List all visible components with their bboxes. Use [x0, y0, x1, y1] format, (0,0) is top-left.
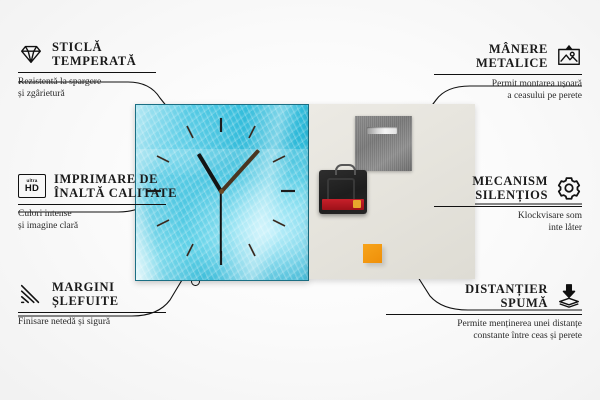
feature-polished-edges: MARGINI ȘLEFUITE Finisare netedă și sigu…	[18, 280, 218, 329]
feature-title: STICLĂ TEMPERATĂ	[52, 40, 136, 68]
feature-desc-line1: Permite menținerea unei distanțe	[352, 319, 582, 331]
clock-hand-second	[220, 192, 222, 254]
gear-icon	[556, 175, 582, 201]
feature-foam-spacer: DISTANȚIER SPUMĂ Permite menținerea unei…	[352, 282, 582, 342]
battery-plus-terminal	[353, 200, 361, 208]
infographic-canvas: STICLĂ TEMPERATĂ Rezistentă la spargere …	[0, 0, 600, 400]
feature-desc-line1: Culori intense	[18, 209, 218, 221]
feature-divider	[18, 72, 156, 73]
feature-desc-line1: Klockvisare som	[382, 211, 582, 223]
feature-metal-handles: MÂNERE METALICE Permit montarea ușoară a…	[382, 42, 582, 102]
metal-hanger-plate	[355, 116, 412, 171]
quartz-mechanism	[319, 170, 367, 214]
feature-header: STICLĂ TEMPERATĂ	[18, 40, 208, 68]
feature-desc-line1: Rezistentă la spargere	[18, 77, 208, 89]
feature-print-quality: ultra HD IMPRIMARE DE ÎNALTĂ CALITATE Cu…	[18, 172, 218, 232]
feature-silent-mechanism: MECANISM SILENȚIOS Klockvisare som inte …	[382, 174, 582, 234]
feature-title: MARGINI ȘLEFUITE	[52, 280, 119, 308]
feature-header: MÂNERE METALICE	[382, 42, 582, 70]
feature-header: MECANISM SILENȚIOS	[382, 174, 582, 202]
battery	[322, 199, 364, 210]
feature-divider	[434, 206, 582, 207]
feature-divider	[18, 204, 166, 205]
picture-frame-icon	[556, 43, 582, 69]
orange-foam-spacer	[363, 244, 382, 263]
feature-title: IMPRIMARE DE ÎNALTĂ CALITATE	[54, 172, 177, 200]
clock-center-cap	[219, 189, 224, 194]
feature-desc-line2: inte låter	[382, 223, 582, 235]
feature-title: DISTANȚIER SPUMĂ	[465, 282, 548, 310]
feature-desc-line2: a ceasului pe perete	[382, 91, 582, 103]
press-down-icon	[556, 283, 582, 309]
feature-title: MECANISM SILENȚIOS	[472, 174, 548, 202]
feature-desc-line1: Permit montarea ușoară	[382, 79, 582, 91]
feature-desc-line2: constante între ceas și perete	[352, 331, 582, 343]
hanger-slot	[367, 127, 397, 134]
feature-desc-line2: și imagine clară	[18, 221, 218, 233]
hd-label: HD	[25, 184, 39, 194]
feature-divider	[18, 312, 166, 313]
ultra-hd-icon: ultra HD	[18, 174, 46, 198]
feature-header: ultra HD IMPRIMARE DE ÎNALTĂ CALITATE	[18, 172, 218, 200]
feature-desc-line1: Finisare netedă și sigură	[18, 317, 218, 329]
feature-desc-line2: și zgârietură	[18, 89, 208, 101]
feature-header: MARGINI ȘLEFUITE	[18, 280, 218, 308]
feature-divider	[386, 314, 582, 315]
diamond-icon	[18, 41, 44, 67]
feature-tempered-glass: STICLĂ TEMPERATĂ Rezistentă la spargere …	[18, 40, 208, 100]
polished-edges-icon	[18, 281, 44, 307]
feature-title: MÂNERE METALICE	[476, 42, 548, 70]
feature-header: DISTANȚIER SPUMĂ	[352, 282, 582, 310]
mechanism-hanger-loop	[335, 164, 356, 175]
feature-divider	[434, 74, 582, 75]
